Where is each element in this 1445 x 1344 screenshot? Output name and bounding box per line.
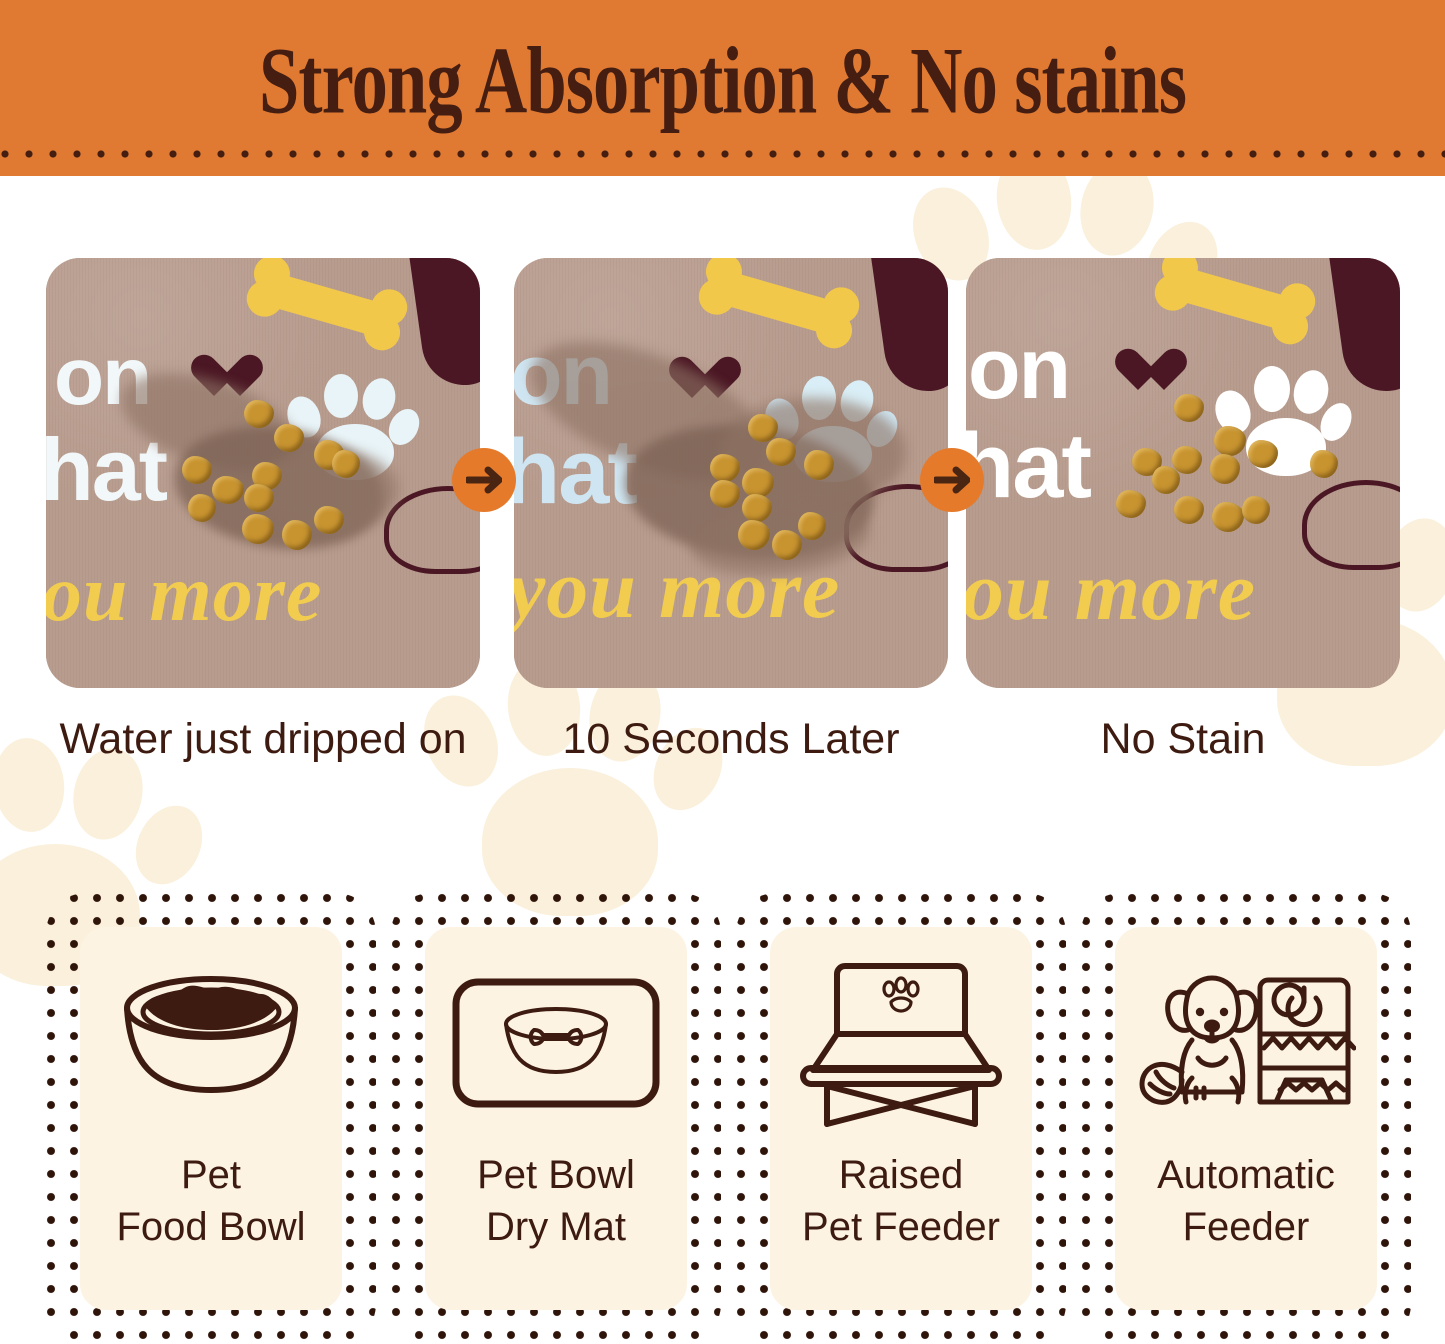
step-arrow-2 — [920, 448, 984, 512]
card-label: Raised Pet Feeder — [802, 1149, 1000, 1253]
header-dotted-divider — [0, 148, 1445, 160]
use-case-cards-row: Pet Food Bowl Pet Bowl Dry Mat — [0, 893, 1445, 1342]
comparison-photo-1: on hat ou more — [46, 258, 480, 688]
card-label-line2: Dry Mat — [477, 1201, 635, 1253]
comparison-photo-3: on hat ou more — [966, 258, 1400, 688]
arrow-right-icon — [466, 465, 502, 495]
use-case-card-pet-bowl-dry-mat[interactable]: Pet Bowl Dry Mat — [391, 893, 721, 1344]
card-label-line2: Pet Feeder — [802, 1201, 1000, 1253]
mat-text-script: ou more — [46, 554, 322, 634]
caption-text: Water just dripped on — [59, 715, 466, 763]
card-label-line1: Pet — [117, 1149, 306, 1201]
mat-text-script: ou more — [966, 550, 1256, 634]
absorption-comparison-row: on hat ou more — [0, 258, 1445, 698]
card-inner-panel: Pet Bowl Dry Mat — [425, 927, 687, 1310]
pet-food-bowl-icon — [96, 943, 326, 1143]
caption-text: 10 Seconds Later — [562, 715, 899, 763]
comparison-caption-1: Water just dripped on — [46, 712, 480, 767]
comparison-caption-3: No Stain — [966, 712, 1400, 767]
arrow-right-icon — [934, 465, 970, 495]
card-label-line1: Raised — [802, 1149, 1000, 1201]
comparison-caption-2: 10 Seconds Later — [514, 712, 948, 767]
use-case-card-automatic-feeder[interactable]: Automatic Feeder — [1081, 893, 1411, 1344]
card-inner-panel: Automatic Feeder — [1115, 927, 1377, 1310]
card-label-line2: Food Bowl — [117, 1201, 306, 1253]
comparison-photo-2: on hat you more — [514, 258, 948, 688]
pet-bowl-dry-mat-icon — [441, 943, 671, 1143]
caption-text: No Stain — [1101, 715, 1266, 763]
mat-text-hat: hat — [966, 420, 1090, 512]
page-title: Strong Absorption & No stains — [51, 26, 1395, 136]
automatic-feeder-icon — [1131, 943, 1361, 1143]
mat-text-on: on — [968, 326, 1069, 412]
card-inner-panel: Pet Food Bowl — [80, 927, 342, 1310]
step-arrow-1 — [452, 448, 516, 512]
raised-pet-feeder-icon — [786, 943, 1016, 1143]
mat-heart-graphic — [1138, 350, 1184, 392]
card-label: Pet Food Bowl — [117, 1149, 306, 1253]
card-inner-panel: Raised Pet Feeder — [770, 927, 1032, 1310]
card-label: Pet Bowl Dry Mat — [477, 1149, 635, 1253]
use-case-card-pet-food-bowl[interactable]: Pet Food Bowl — [46, 893, 376, 1344]
card-label-line1: Pet Bowl — [477, 1149, 635, 1201]
use-case-card-raised-pet-feeder[interactable]: Raised Pet Feeder — [736, 893, 1066, 1344]
card-label-line2: Feeder — [1157, 1201, 1335, 1253]
card-label: Automatic Feeder — [1157, 1149, 1335, 1253]
card-label-line1: Automatic — [1157, 1149, 1335, 1201]
header-banner: Strong Absorption & No stains — [0, 0, 1445, 176]
